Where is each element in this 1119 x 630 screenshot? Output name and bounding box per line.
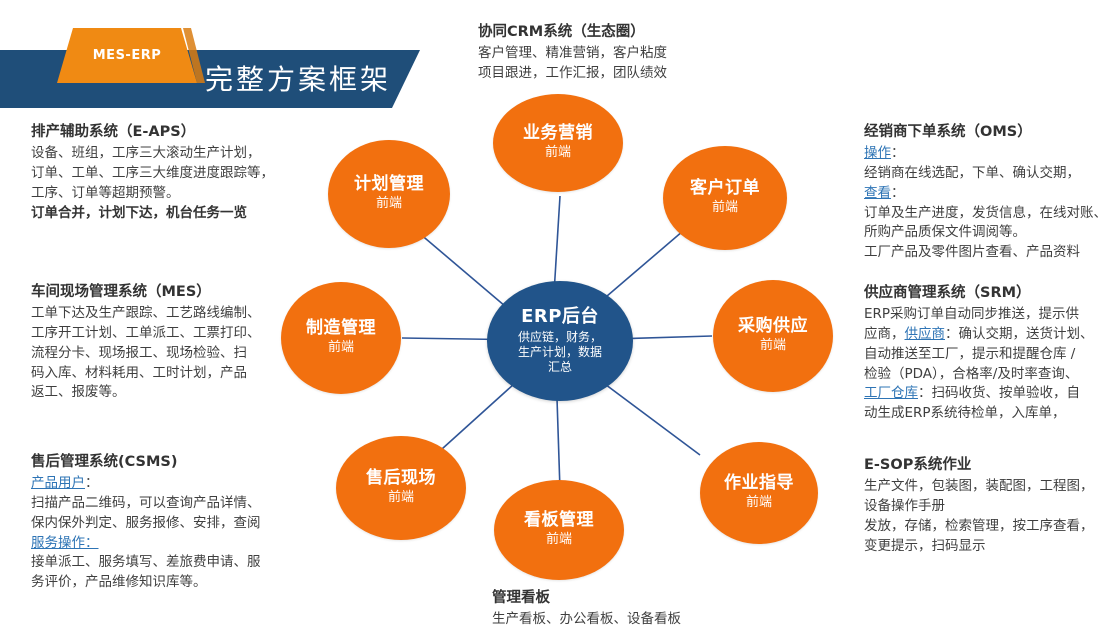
node-purchase[interactable]: 采购供应 前端 (713, 280, 833, 392)
block-esop-line-2: 设备操作手册 (864, 497, 1094, 517)
block-srm-line-3: 自动推送至工厂，提示和提醒仓库 / (864, 345, 1094, 365)
block-csms-link-1-row: 产品用户： (31, 474, 261, 494)
block-oms-line-b2: 所购产品质保文件调阅等。 (864, 223, 1107, 243)
block-mes-line-4: 码入库、材料耗用、工时计划，产品 (31, 364, 261, 384)
block-esop-title: E-SOP系统作业 (864, 455, 1094, 476)
block-srm-line-5: 工厂仓库：扫码收货、按单验收，自 (864, 384, 1094, 404)
block-csms-title: 售后管理系统(CSMS) (31, 452, 261, 473)
block-esop-line-1: 生产文件，包装图，装配图，工程图， (864, 477, 1094, 497)
block-kanban: 管理看板 生产看板、办公看板、设备看板 (492, 588, 681, 630)
block-kanban-line-1: 生产看板、办公看板、设备看板 (492, 610, 681, 630)
node-aftersales[interactable]: 售后现场 前端 (336, 436, 466, 540)
block-oms-link-2-row: 查看： (864, 184, 1107, 204)
block-srm-line-1: ERP采购订单自动同步推送，提示供 (864, 305, 1094, 325)
block-srm-line-2b: ：确认交期，送货计划、 (945, 326, 1094, 342)
node-aftersales-sub: 前端 (388, 490, 414, 507)
block-csms-link-1-colon: ： (85, 475, 99, 491)
block-srm-title: 供应商管理系统（SRM） (864, 283, 1094, 304)
node-kanban[interactable]: 看板管理 前端 (494, 480, 624, 580)
block-crm: 协同CRM系统（生态圈） 客户管理、精准营销，客户粘度 项目跟进，工作汇报，团队… (478, 22, 667, 84)
block-eaps-highlight: 订单合并，计划下达，机台任务一览 (31, 204, 274, 224)
hub-line-1: 供应链，财务， (518, 330, 602, 345)
node-sop-sub: 前端 (746, 495, 772, 512)
block-eaps-line-1: 设备、班组，工序三大滚动生产计划， (31, 144, 274, 164)
node-plan-sub: 前端 (376, 196, 402, 213)
block-srm-link-supplier[interactable]: 供应商 (905, 326, 946, 342)
block-oms-line-b3: 工厂产品及零件图片查看、产品资料 (864, 243, 1107, 263)
block-oms-link-2-colon: ： (891, 185, 905, 201)
block-esop-line-3: 发放，存储，检索管理，按工序查看， (864, 517, 1094, 537)
block-esop: E-SOP系统作业 生产文件，包装图，装配图，工程图， 设备操作手册 发放，存储… (864, 455, 1094, 556)
block-kanban-title: 管理看板 (492, 588, 681, 609)
block-oms-link-1-row: 操作： (864, 144, 1107, 164)
block-srm-line-2a: 应商， (864, 326, 905, 342)
block-eaps-title: 排产辅助系统（E-APS） (31, 122, 274, 143)
block-srm-link-factory-warehouse[interactable]: 工厂仓库 (864, 385, 918, 401)
node-purchase-title: 采购供应 (738, 317, 808, 337)
block-mes: 车间现场管理系统（MES） 工单下达及生产跟踪、工艺路线编制、 工序开工计划、工… (31, 282, 261, 403)
block-oms-link-operate[interactable]: 操作 (864, 145, 891, 161)
node-manufacture[interactable]: 制造管理 前端 (281, 282, 401, 394)
node-manufacture-sub: 前端 (328, 340, 354, 357)
diagram-canvas: MES-ERP 完整方案框架 计划管理 前端 业务营销 前端 客户订单 前端 制… (0, 0, 1119, 630)
block-mes-line-2: 工序开工计划、工单派工、工票打印、 (31, 324, 261, 344)
hub-line-2: 生产计划，数据 (518, 345, 602, 360)
block-csms-line-a1: 扫描产品二维码，可以查询产品详情、 (31, 494, 261, 514)
node-sop[interactable]: 作业指导 前端 (700, 442, 818, 544)
node-marketing-sub: 前端 (545, 145, 571, 162)
node-order[interactable]: 客户订单 前端 (663, 146, 787, 250)
block-crm-title: 协同CRM系统（生态圈） (478, 22, 667, 43)
node-sop-title: 作业指导 (724, 474, 794, 494)
block-mes-line-5: 返工、报废等。 (31, 383, 261, 403)
block-csms-line-b2: 务评价，产品维修知识库等。 (31, 573, 261, 593)
block-oms-link-view[interactable]: 查看 (864, 185, 891, 201)
block-srm-line-6: 动生成ERP系统待检单，入库单， (864, 404, 1094, 424)
hub-line-3: 汇总 (548, 360, 572, 375)
block-mes-title: 车间现场管理系统（MES） (31, 282, 261, 303)
block-oms-line-a1: 经销商在线选配，下单、确认交期， (864, 164, 1107, 184)
node-plan[interactable]: 计划管理 前端 (328, 140, 450, 248)
block-crm-line-2: 项目跟进，工作汇报，团队绩效 (478, 64, 667, 84)
block-srm-line-4: 检验（PDA），合格率/及时率查询、 (864, 365, 1094, 385)
block-esop-line-4: 变更提示，扫码显示 (864, 537, 1094, 557)
block-crm-line-1: 客户管理、精准营销，客户粘度 (478, 44, 667, 64)
block-oms-link-1-colon: ： (891, 145, 905, 161)
block-csms-link-product-user[interactable]: 产品用户 (31, 475, 85, 491)
block-csms-link-service-ops[interactable]: 服务操作： (31, 535, 99, 551)
hub-title: ERP后台 (521, 307, 599, 328)
node-aftersales-title: 售后现场 (366, 469, 436, 489)
block-csms-link-2-row: 服务操作： (31, 534, 261, 554)
block-oms-title: 经销商下单系统（OMS） (864, 122, 1107, 143)
node-purchase-sub: 前端 (760, 338, 786, 355)
hub-erp[interactable]: ERP后台 供应链，财务， 生产计划，数据 汇总 (487, 281, 633, 401)
block-mes-line-1: 工单下达及生产跟踪、工艺路线编制、 (31, 304, 261, 324)
block-eaps: 排产辅助系统（E-APS） 设备、班组，工序三大滚动生产计划， 订单、工单、工序… (31, 122, 274, 223)
block-mes-line-3: 流程分卡、现场报工、现场检验、扫 (31, 344, 261, 364)
node-marketing[interactable]: 业务营销 前端 (493, 94, 623, 192)
block-eaps-line-2: 订单、工单、工序三大维度进度跟踪等， (31, 164, 274, 184)
block-csms-line-a2: 保内保外判定、服务报修、安排，查阅 (31, 514, 261, 534)
node-order-sub: 前端 (712, 200, 738, 217)
node-kanban-sub: 前端 (546, 532, 572, 549)
block-oms-line-b1: 订单及生产进度，发货信息，在线对账、 (864, 204, 1107, 224)
block-srm-line-2: 应商，供应商：确认交期，送货计划、 (864, 325, 1094, 345)
node-marketing-title: 业务营销 (523, 124, 593, 144)
block-csms-line-b1: 接单派工、服务填写、差旅费申请、服 (31, 553, 261, 573)
block-csms: 售后管理系统(CSMS) 产品用户： 扫描产品二维码，可以查询产品详情、 保内保… (31, 452, 261, 593)
block-oms: 经销商下单系统（OMS） 操作： 经销商在线选配，下单、确认交期， 查看： 订单… (864, 122, 1107, 263)
block-srm: 供应商管理系统（SRM） ERP采购订单自动同步推送，提示供 应商，供应商：确认… (864, 283, 1094, 424)
node-order-title: 客户订单 (690, 179, 760, 199)
block-eaps-line-3: 工序、订单等超期预警。 (31, 184, 274, 204)
block-srm-line-5b: ：扫码收货、按单验收，自 (918, 385, 1080, 401)
node-plan-title: 计划管理 (354, 175, 424, 195)
node-manufacture-title: 制造管理 (306, 319, 376, 339)
node-kanban-title: 看板管理 (524, 511, 594, 531)
